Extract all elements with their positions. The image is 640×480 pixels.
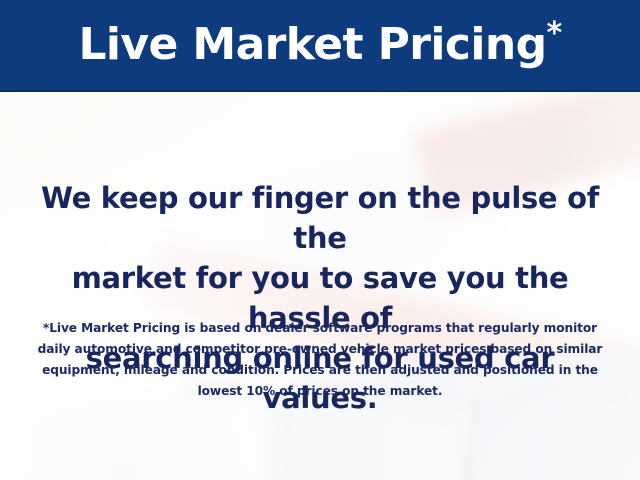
live-market-pricing-banner: Live Market Pricing* We keep our finger … xyxy=(0,0,640,480)
page-title: Live Market Pricing* xyxy=(78,19,561,71)
title-bar: Live Market Pricing* xyxy=(0,0,640,92)
disclaimer-line-3: equipment, mileage and condition. Prices… xyxy=(26,360,614,381)
disclaimer-line-4: lowest 10% of prices on the market. xyxy=(26,381,614,402)
disclaimer-line-1: *Live Market Pricing is based on dealer … xyxy=(26,318,614,339)
page-title-text: Live Market Pricing xyxy=(78,19,546,70)
photo-shape-trim xyxy=(517,98,640,188)
disclaimer-text: *Live Market Pricing is based on dealer … xyxy=(26,318,614,402)
page-title-asterisk: * xyxy=(546,16,561,51)
disclaimer-line-2: daily automotive and competitor pre-owne… xyxy=(26,339,614,360)
headline-line-1: We keep our finger on the pulse of the xyxy=(24,178,616,258)
